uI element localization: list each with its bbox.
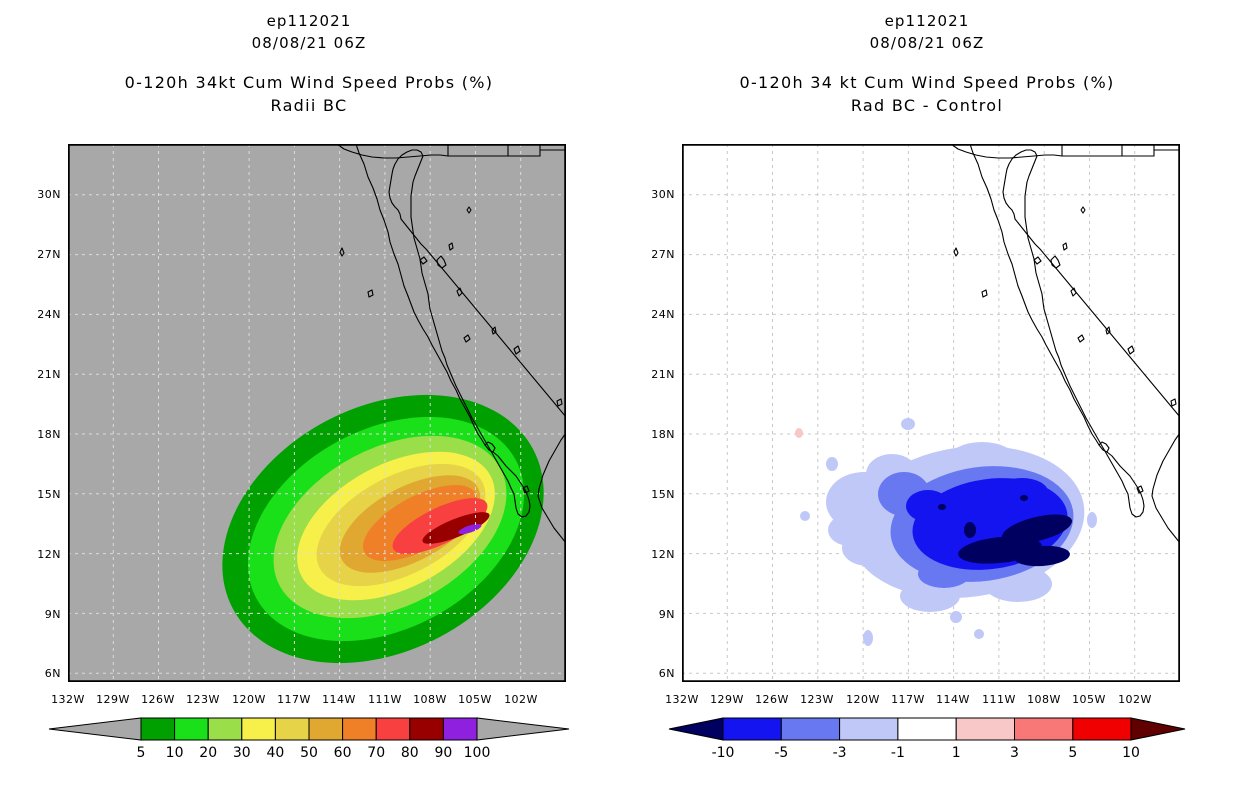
swatch-90-100	[443, 718, 477, 740]
cb-tick-70: 70	[367, 745, 385, 761]
cb-tick-100: 100	[464, 745, 491, 761]
swatch-neg10-neg5	[723, 718, 781, 740]
cb-tick-5: 5	[137, 745, 146, 761]
panel-radii-bc: ep112021 08/08/21 06Z 0-120h 34kt Cum Wi…	[0, 0, 618, 800]
cb-tick-5: 5	[1068, 745, 1077, 761]
cb-tick-neg3: -3	[833, 745, 847, 761]
swatch-20-30	[208, 718, 242, 740]
lat-label-18N: 18N	[23, 428, 61, 441]
swatch-neg3-neg1	[840, 718, 898, 740]
swatch-5-10	[141, 718, 175, 740]
colorbar-wrap-right: -10 -5 -3 -1 1 3 5 10	[618, 705, 1236, 775]
colorbar-left-arrow	[49, 718, 141, 740]
swatch-3-5	[1015, 718, 1073, 740]
lat-label-6N: 6N	[23, 667, 61, 680]
lat-label-9N: 9N	[23, 608, 61, 621]
storm-id-label: ep112021	[618, 10, 1236, 32]
colorbar-ticklabels: -10 -5 -3 -1 1 3 5 10	[712, 745, 1140, 761]
colorbar-right-arrow	[477, 718, 569, 740]
lat-label-21N: 21N	[23, 368, 61, 381]
swatch-5-10	[1073, 718, 1131, 740]
chart-title: 0-120h 34 kt Cum Wind Speed Probs (%)	[618, 71, 1236, 95]
cb-tick-90: 90	[434, 745, 452, 761]
cb-tick-neg1: -1	[891, 745, 905, 761]
chart-subtitle: Rad BC - Control	[618, 95, 1236, 117]
cb-tick-50: 50	[300, 745, 318, 761]
panel-left-title-block: ep112021 08/08/21 06Z 0-120h 34kt Cum Wi…	[0, 10, 618, 117]
forecast-time-label: 08/08/21 06Z	[618, 32, 1236, 54]
lat-label-12N: 12N	[637, 548, 675, 561]
cb-tick-30: 30	[233, 745, 251, 761]
storm-id-label: ep112021	[0, 10, 618, 32]
map-plot-area-right: 30N 27N 24N 21N 18N 15N 12N 9N 6N 132W 1…	[682, 144, 1180, 682]
swatch-neg1-1	[898, 718, 956, 740]
lat-label-24N: 24N	[23, 308, 61, 321]
lat-label-9N: 9N	[637, 608, 675, 621]
colorbar-wrap-left: 5 10 20 30 40 50 60 70 80 90 100	[0, 705, 618, 775]
lat-label-30N: 30N	[23, 188, 61, 201]
cb-tick-3: 3	[1010, 745, 1019, 761]
swatch-50-60	[309, 718, 343, 740]
wind-probability-map	[68, 144, 566, 682]
lat-label-15N: 15N	[637, 488, 675, 501]
forecast-time-label: 08/08/21 06Z	[0, 32, 618, 54]
colorbar-left-arrow	[669, 718, 723, 740]
lat-label-30N: 30N	[637, 188, 675, 201]
cb-tick-neg10: -10	[712, 745, 735, 761]
lat-label-15N: 15N	[23, 488, 61, 501]
lat-label-27N: 27N	[23, 248, 61, 261]
colorbar-swatches	[141, 718, 477, 740]
lat-label-27N: 27N	[637, 248, 675, 261]
cb-tick-1: 1	[952, 745, 961, 761]
colorbar-ticklabels: 5 10 20 30 40 50 60 70 80 90 100	[137, 745, 491, 761]
swatch-neg5-neg3	[781, 718, 839, 740]
cb-tick-40: 40	[266, 745, 284, 761]
swatch-40-50	[275, 718, 309, 740]
lat-label-21N: 21N	[637, 368, 675, 381]
lat-label-18N: 18N	[637, 428, 675, 441]
map-plot-area-left: 30N 27N 24N 21N 18N 15N 12N 9N 6N 132W 1…	[68, 144, 566, 682]
swatch-70-80	[376, 718, 410, 740]
panel-right-title-block: ep112021 08/08/21 06Z 0-120h 34 kt Cum W…	[618, 10, 1236, 117]
cb-tick-neg5: -5	[774, 745, 788, 761]
probability-difference-map	[682, 144, 1180, 682]
cb-tick-60: 60	[334, 745, 352, 761]
contour-level-pos1	[795, 428, 803, 438]
swatch-80-90	[410, 718, 444, 740]
swatch-10-20	[175, 718, 209, 740]
chart-subtitle: Radii BC	[0, 95, 618, 117]
colorbar-right-arrow	[1131, 718, 1185, 740]
cb-tick-80: 80	[401, 745, 419, 761]
colorbar-swatches	[723, 718, 1131, 740]
lat-label-24N: 24N	[637, 308, 675, 321]
chart-title: 0-120h 34kt Cum Wind Speed Probs (%)	[0, 71, 618, 95]
cb-tick-10: 10	[166, 745, 184, 761]
panel-rad-bc-minus-control: ep112021 08/08/21 06Z 0-120h 34 kt Cum W…	[618, 0, 1236, 800]
swatch-30-40	[242, 718, 276, 740]
lat-label-12N: 12N	[23, 548, 61, 561]
cb-tick-10: 10	[1122, 745, 1140, 761]
swatch-1-3	[956, 718, 1014, 740]
wind-speed-probability-colorbar[interactable]: 5 10 20 30 40 50 60 70 80 90 100	[29, 705, 589, 765]
cb-tick-20: 20	[199, 745, 217, 761]
probability-difference-colorbar[interactable]: -10 -5 -3 -1 1 3 5 10	[647, 705, 1207, 765]
swatch-60-70	[343, 718, 377, 740]
lat-label-6N: 6N	[637, 667, 675, 680]
